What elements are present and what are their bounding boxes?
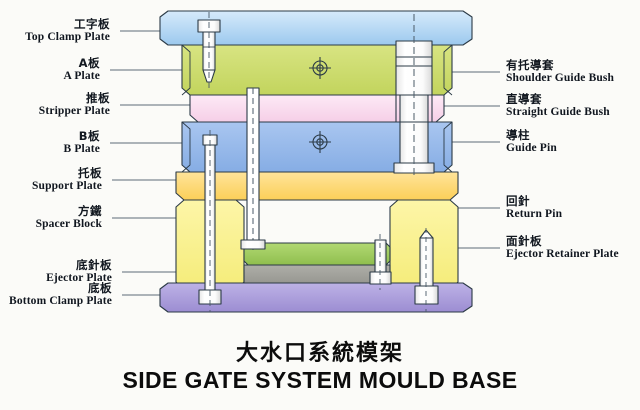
label-ejector-retainer-plate: 面針板 Ejector Retainer Plate: [506, 235, 619, 261]
label-ejector-retainer-plate-en: Ejector Retainer Plate: [506, 248, 619, 261]
label-bottom-clamp-plate: 底板 Bottom Clamp Plate: [9, 282, 112, 308]
label-bottom-clamp-plate-cn: 底板: [9, 282, 112, 295]
label-a-plate: A板 A Plate: [64, 57, 101, 83]
label-stripper-plate: 推板 Stripper Plate: [39, 92, 110, 118]
label-guide-pin: 導柱 Guide Pin: [506, 129, 557, 155]
label-shoulder-guide-bush-cn: 有托導套: [506, 59, 614, 72]
diagram-title-cn: 大水口系統模架: [0, 341, 640, 367]
label-shoulder-guide-bush: 有托導套 Shoulder Guide Bush: [506, 59, 614, 85]
label-support-plate-cn: 托板: [32, 167, 102, 180]
label-b-plate-cn: B板: [64, 130, 101, 143]
label-return-pin-cn: 回針: [506, 195, 562, 208]
label-spacer-block: 方鐵 Spacer Block: [36, 205, 102, 231]
label-shoulder-guide-bush-en: Shoulder Guide Bush: [506, 72, 614, 85]
diagram-title-en: SIDE GATE SYSTEM MOULD BASE: [0, 367, 640, 394]
label-support-plate: 托板 Support Plate: [32, 167, 102, 193]
label-spacer-block-en: Spacer Block: [36, 218, 102, 231]
label-ejector-plate-cn: 底針板: [46, 259, 112, 272]
plate-support: [176, 172, 458, 200]
label-spacer-block-cn: 方鐵: [36, 205, 102, 218]
label-straight-guide-bush-cn: 直導套: [506, 93, 610, 106]
label-top-clamp-plate: 工字板 Top Clamp Plate: [25, 18, 110, 44]
label-support-plate-en: Support Plate: [32, 180, 102, 193]
label-stripper-plate-cn: 推板: [39, 92, 110, 105]
label-b-plate-en: B Plate: [64, 143, 101, 156]
label-straight-guide-bush-en: Straight Guide Bush: [506, 106, 610, 119]
label-a-plate-cn: A板: [64, 57, 101, 70]
label-guide-pin-cn: 導柱: [506, 129, 557, 142]
label-return-pin-en: Return Pin: [506, 208, 562, 221]
label-straight-guide-bush: 直導套 Straight Guide Bush: [506, 93, 610, 119]
label-top-clamp-plate-cn: 工字板: [25, 18, 110, 31]
label-a-plate-en: A Plate: [64, 70, 101, 83]
plate-ejector-retainer: [244, 243, 390, 265]
label-ejector-retainer-plate-cn: 面針板: [506, 235, 619, 248]
diagram-canvas: 工字板 Top Clamp Plate A板 A Plate 推板 Stripp…: [0, 0, 640, 410]
label-guide-pin-en: Guide Pin: [506, 142, 557, 155]
diagram-title: 大水口系統模架 SIDE GATE SYSTEM MOULD BASE: [0, 341, 640, 394]
label-top-clamp-plate-en: Top Clamp Plate: [25, 31, 110, 44]
label-stripper-plate-en: Stripper Plate: [39, 105, 110, 118]
label-return-pin: 回針 Return Pin: [506, 195, 562, 221]
label-bottom-clamp-plate-en: Bottom Clamp Plate: [9, 295, 112, 308]
label-b-plate: B板 B Plate: [64, 130, 101, 156]
